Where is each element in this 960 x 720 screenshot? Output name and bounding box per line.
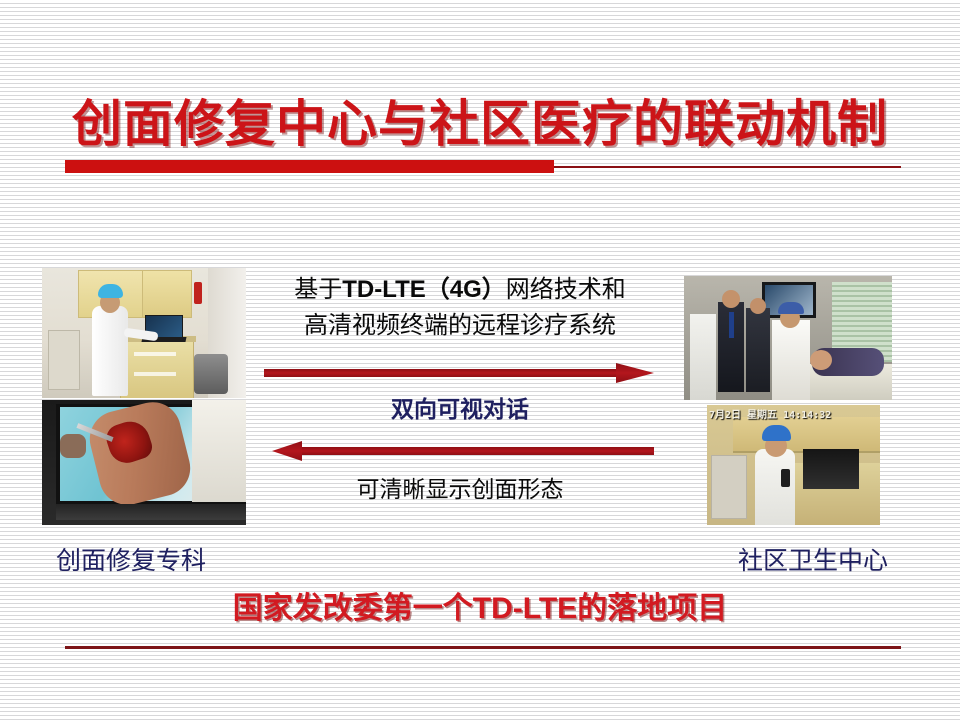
photo-clinic-nurse-scene — [42, 268, 246, 398]
arrow-left-icon — [272, 440, 654, 462]
system-description-tech: TD-LTE（4G） — [342, 276, 506, 303]
page-title: 创面修复中心与社区医疗的联动机制 — [0, 84, 960, 156]
nurse-coat — [755, 449, 795, 525]
bottom-rule — [65, 646, 901, 649]
arrow-right-svg — [264, 362, 654, 384]
white-towel — [192, 400, 246, 502]
system-description-line-2: 高清视频终端的远程诊疗系统 — [258, 308, 662, 344]
label-right-site: 社区卫生中心 — [738, 541, 888, 577]
photo-wound-monitor — [42, 400, 246, 525]
lower-cabinet — [120, 340, 194, 398]
drawer-handle-lower — [134, 372, 176, 376]
label-left-site: 创面修复专科 — [56, 541, 206, 577]
upper-cabinet — [733, 417, 880, 453]
clinician-hand — [60, 434, 86, 458]
official-head-1 — [722, 290, 740, 308]
arrow-left-svg — [272, 440, 654, 462]
system-description: 基于TD-LTE（4G）网络技术和 高清视频终端的远程诊疗系统 — [258, 272, 662, 344]
official-suit-2 — [746, 308, 770, 392]
chair — [48, 330, 80, 390]
nurse-coat — [92, 306, 128, 396]
doctor-white-coat — [772, 320, 810, 400]
photo-clinic-nurse — [42, 268, 246, 398]
footer-tech: TD-LTE — [473, 592, 577, 625]
patient-face — [810, 350, 832, 370]
handheld-device — [781, 469, 790, 487]
photo-video-feed: 7月2日 星期五 14:14:32 — [707, 405, 880, 525]
system-description-prefix: 基于 — [294, 277, 342, 303]
photo-officials-visit — [684, 276, 892, 400]
monitor-lower-bezel — [56, 504, 246, 520]
necktie — [729, 312, 734, 338]
nurse-surgical-cap — [762, 425, 791, 441]
nurse-surgical-cap — [98, 284, 123, 298]
photo-video-feed-scene: 7月2日 星期五 14:14:32 — [707, 405, 880, 525]
staff-white-coat-left — [690, 314, 716, 400]
footer-suffix: 的落地项目 — [577, 592, 727, 625]
photo-wound-monitor-scene — [42, 400, 246, 525]
arrow-right-icon — [264, 362, 654, 384]
footer-banner: 国家发改委第一个TD-LTE的落地项目 — [0, 583, 960, 627]
slide-canvas: 创面修复中心与社区医疗的联动机制 — [0, 0, 960, 720]
official-head-2 — [750, 298, 766, 314]
video-timestamp-overlay: 7月2日 星期五 14:14:32 — [709, 406, 878, 420]
arrow-left-label: 可清晰显示创面形态 — [258, 470, 662, 504]
photo-officials-visit-scene — [684, 276, 892, 400]
desk-monitor — [803, 449, 859, 489]
footer-prefix: 国家发改委第一个 — [233, 592, 473, 625]
system-description-line-1: 基于TD-LTE（4G）网络技术和 — [258, 272, 662, 308]
drawer-handle-upper — [134, 352, 176, 356]
arrow-right-label: 双向可视对话 — [258, 390, 662, 424]
chair — [711, 455, 747, 519]
title-rule-thick — [65, 160, 554, 173]
doctor-surgical-cap — [778, 302, 804, 314]
upper-cabinet-right — [142, 270, 192, 318]
fire-extinguisher — [194, 282, 202, 304]
system-description-suffix: 网络技术和 — [506, 277, 626, 303]
trash-bin — [194, 354, 228, 394]
